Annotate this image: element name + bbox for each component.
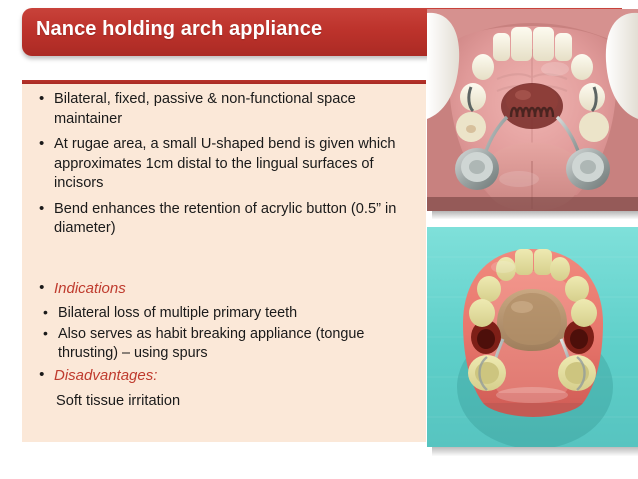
panel-top-rule <box>22 80 426 84</box>
list-item: Bilateral loss of multiple primary teeth <box>32 304 426 323</box>
list-item: Bend enhances the retention of acrylic b… <box>32 200 426 239</box>
vertical-spacer <box>32 245 426 279</box>
disadvantages-heading: Disadvantages: <box>32 366 426 386</box>
dental-cast-photo-nance-appliance <box>427 227 638 447</box>
list-item: Also serves as habit breaking appliance … <box>32 325 426 363</box>
content-panel: Bilateral, fixed, passive & non-function… <box>22 80 426 442</box>
intraoral-photo-graphic <box>427 9 638 211</box>
photo-bottom-shadow <box>432 447 638 456</box>
intraoral-photo-nance-appliance <box>427 9 638 211</box>
disadvantages-text: Soft tissue irritation <box>32 392 426 412</box>
indications-heading: Indications <box>32 279 426 299</box>
indications-sublist: Bilateral loss of multiple primary teeth… <box>32 304 426 363</box>
dental-cast-photo-graphic <box>427 227 638 447</box>
bullet-list: Bilateral, fixed, passive & non-function… <box>32 90 426 411</box>
page-title: Nance holding arch appliance <box>36 18 322 41</box>
photo-top-shadow <box>432 211 638 219</box>
list-item: Bilateral, fixed, passive & non-function… <box>32 90 426 129</box>
slide: Nance holding arch appliance Bilateral, … <box>0 0 638 479</box>
list-item: At rugae area, a small U-shaped bend is … <box>32 135 426 194</box>
